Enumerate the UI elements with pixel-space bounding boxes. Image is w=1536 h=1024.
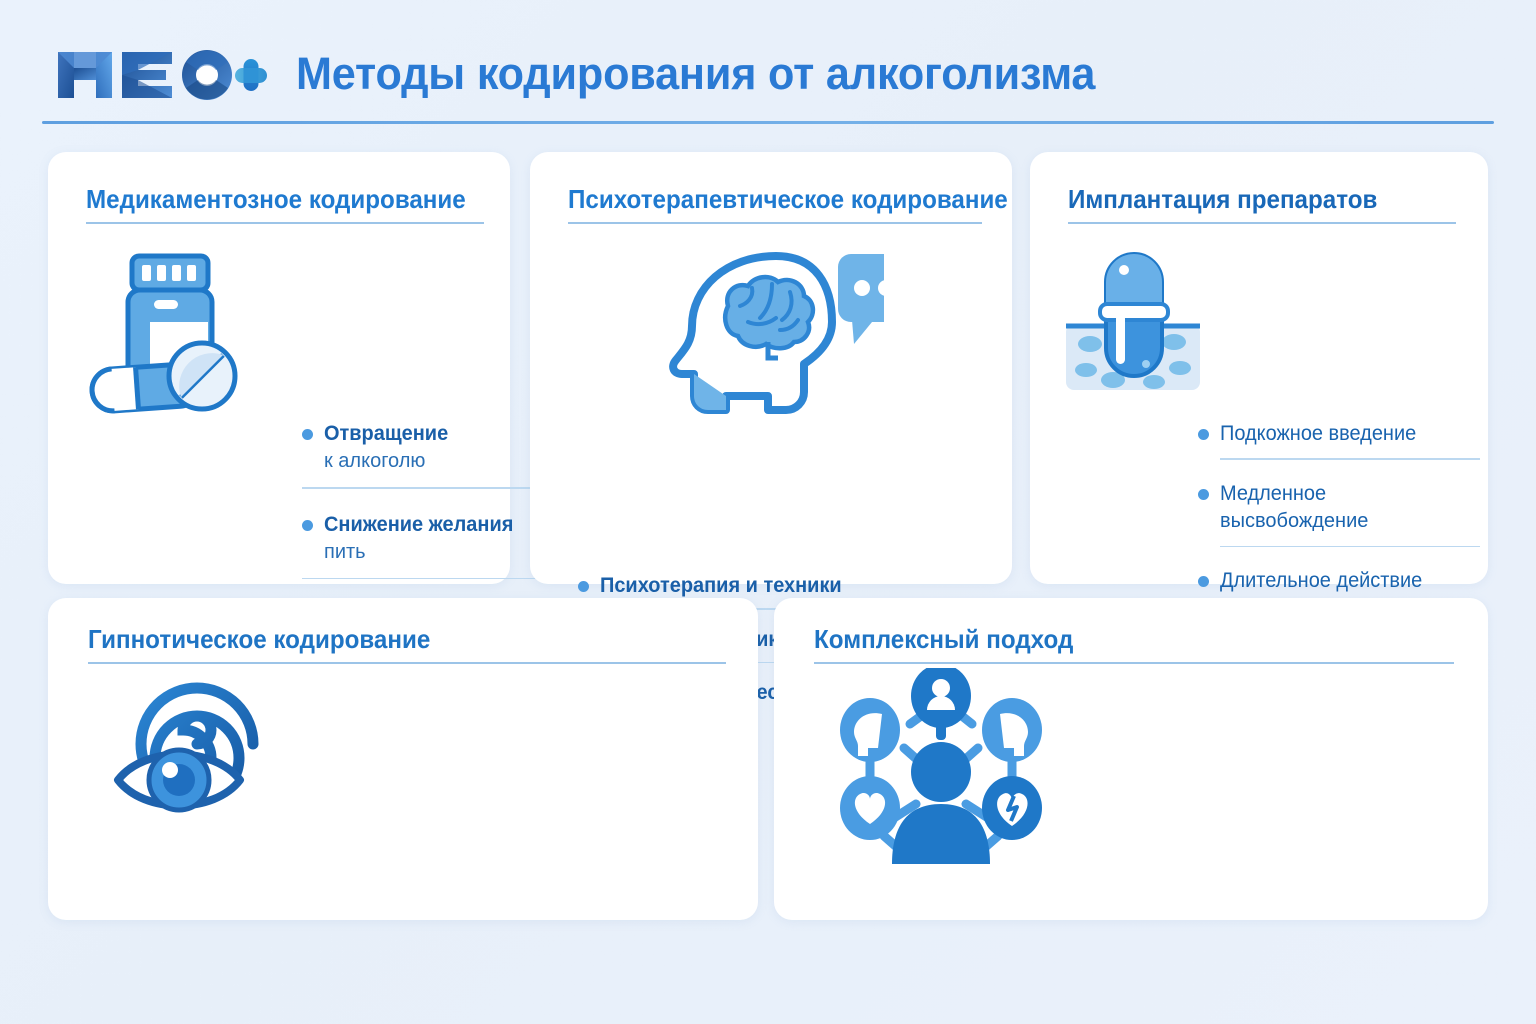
card-title-divider (814, 662, 1454, 664)
method-card-psychotherapy: Психотерапевтическое кодирование (530, 152, 1012, 584)
list-item: Длительное действие (1198, 567, 1470, 594)
hypnosis-eye-icon (108, 676, 268, 827)
pill-bottle-icon (80, 248, 250, 423)
card-title-divider (88, 662, 726, 664)
bullet-primary-text: Отвращение (324, 420, 527, 447)
bullet-dot-icon (1198, 489, 1209, 500)
capsule-implant-icon (1058, 248, 1208, 403)
bullet-primary-text: Подкожное введение (1220, 420, 1458, 447)
method-card-medication: Медикаментозное кодирование (48, 152, 510, 584)
head-brain-speech-icon (656, 246, 884, 423)
method-card-hypnosis: Гипнотическое кодирование Гипноз подсозн… (48, 598, 758, 920)
list-item: Отвращение к алкоголю (302, 420, 538, 475)
card-title: Медикаментозное кодирование (86, 184, 466, 215)
bullet-secondary-text: к алкоголю (324, 447, 538, 475)
bullet-dot-icon (578, 581, 589, 592)
bullet-dot-icon (302, 520, 313, 531)
bullet-dot-icon (302, 429, 313, 440)
bullet-divider (1220, 546, 1480, 548)
card-title: Психотерапевтическое кодирование (568, 184, 1008, 215)
bullet-secondary-text: высвобождение (1220, 507, 1470, 535)
page-title: Методы кодирования от алкоголизма (296, 44, 1095, 104)
card-title-divider (1068, 222, 1456, 224)
bullet-divider (302, 487, 536, 489)
neo-plus-logo (52, 44, 270, 106)
card-title: Комплексный подход (814, 624, 1073, 655)
bullet-secondary-text: пить (324, 538, 538, 566)
bullet-dot-icon (1198, 429, 1209, 440)
bullet-list: Подкожное введение Медленное высвобожден… (1198, 420, 1470, 627)
list-item: Подкожное введение (1198, 420, 1470, 447)
list-item: Снижение желания пить (302, 511, 538, 566)
card-title-divider (568, 222, 982, 224)
method-card-complex: Комплексный подход (774, 598, 1488, 920)
method-card-implant: Имплантация препаратов (1030, 152, 1488, 584)
bullet-dot-icon (1198, 576, 1209, 587)
card-title: Имплантация препаратов (1068, 184, 1377, 215)
header-divider (42, 121, 1494, 124)
bullet-divider (1220, 458, 1480, 460)
network-person-icon (838, 668, 1044, 871)
bullet-primary-text: Медленное (1220, 480, 1458, 507)
card-title: Гипнотическое кодирование (88, 624, 430, 655)
bullet-primary-text: Длительное действие (1220, 567, 1458, 594)
card-title-divider (86, 222, 484, 224)
page-header: Методы кодирования от алкоголизма (0, 0, 1536, 134)
list-item: Медленное высвобождение (1198, 480, 1470, 535)
bullet-divider (302, 578, 536, 580)
list-item: Психотерапия и техники (578, 572, 988, 599)
bullet-primary-text: Снижение желания (324, 511, 527, 538)
bullet-primary-text: Психотерапия и техники (600, 572, 969, 599)
